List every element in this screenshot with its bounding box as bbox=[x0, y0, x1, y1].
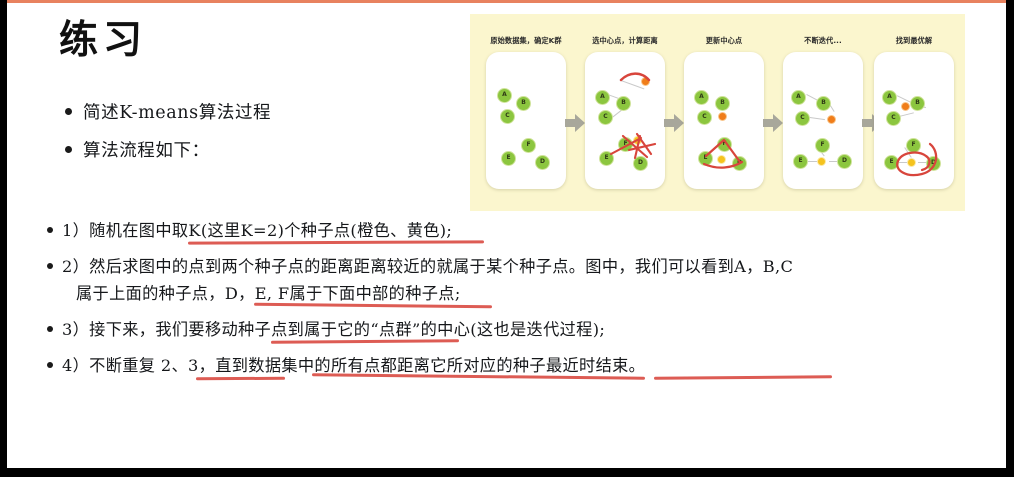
ink-underline bbox=[188, 240, 484, 244]
slide-canvas: 练习 简述K-means算法过程 算法流程如下： 1）随机在图中取K(这里K=2… bbox=[0, 0, 1014, 477]
step-body: 3）接下来，我们要移动种子点到属于它的“点群”的中心(这也是迭代过程); bbox=[62, 316, 605, 343]
data-node-c: C bbox=[795, 111, 810, 126]
data-node-b: B bbox=[616, 96, 631, 111]
data-node-e: E bbox=[793, 154, 808, 169]
data-node-f: F bbox=[717, 137, 732, 152]
slide-content: 练习 简述K-means算法过程 算法流程如下： 1）随机在图中取K(这里K=2… bbox=[7, 3, 1006, 468]
top-bullet-label: 算法流程如下： bbox=[83, 137, 210, 162]
step-body: 4）不断重复 2、3，直到数据集中的所有点都距离它所对应的种子最近时结束。 bbox=[62, 352, 645, 379]
diagram-panel-2: 选中心点，计算距离 A B C F E D bbox=[581, 14, 669, 211]
data-node-a: A bbox=[595, 90, 610, 105]
step-body: 2）然后求图中的点到两个种子点的距离距离较近的就属于某个种子点。图中，我们可以看… bbox=[62, 253, 793, 307]
data-node-b: B bbox=[516, 96, 531, 111]
data-node-b: B bbox=[910, 96, 925, 111]
ink-underline bbox=[654, 375, 832, 380]
data-node-a: A bbox=[882, 90, 897, 105]
data-node-f: F bbox=[815, 138, 830, 153]
panel-card: A B C F E D bbox=[585, 52, 665, 189]
data-node-e: E bbox=[884, 155, 899, 170]
data-node-c: C bbox=[697, 110, 712, 125]
list-item: 算法流程如下： bbox=[65, 137, 465, 162]
data-node-a: A bbox=[497, 88, 512, 103]
list-item: 4）不断重复 2、3，直到数据集中的所有点都距离它所对应的种子最近时结束。 bbox=[47, 352, 947, 379]
distance-link bbox=[809, 117, 825, 120]
ink-annotation bbox=[585, 52, 665, 189]
centroid-orange bbox=[901, 102, 910, 111]
data-node-d: D bbox=[535, 155, 550, 170]
diagram-panel-1: 原始数据集，确定K群 A B C F E D bbox=[482, 14, 570, 211]
data-node-b: B bbox=[715, 96, 730, 111]
ink-underline bbox=[271, 339, 459, 344]
page-title: 练习 bbox=[59, 19, 147, 62]
data-node-e: E bbox=[698, 151, 713, 166]
data-node-f: F bbox=[618, 137, 633, 152]
bullet-dot-icon bbox=[47, 227, 53, 233]
centroid-yellow bbox=[817, 157, 826, 166]
list-item: 1）随机在图中取K(这里K=2)个种子点(橙色、黄色); bbox=[47, 217, 947, 244]
panel-card: A B C F E D bbox=[684, 52, 764, 189]
panel-caption: 选中心点，计算距离 bbox=[581, 36, 669, 46]
list-item: 简述K-means算法过程 bbox=[65, 99, 465, 124]
data-node-d: D bbox=[732, 156, 747, 171]
data-node-e: E bbox=[501, 151, 516, 166]
ink-underline bbox=[196, 377, 285, 380]
centroid-yellow bbox=[633, 136, 642, 145]
centroid-yellow bbox=[717, 155, 726, 164]
data-node-f: F bbox=[906, 138, 921, 153]
data-node-d: D bbox=[926, 156, 941, 171]
data-node-d: D bbox=[633, 156, 648, 171]
step-body: 1）随机在图中取K(这里K=2)个种子点(橙色、黄色); bbox=[62, 217, 452, 244]
list-item: 2）然后求图中的点到两个种子点的距离距离较近的就属于某个种子点。图中，我们可以看… bbox=[47, 253, 947, 307]
steps-list: 1）随机在图中取K(这里K=2)个种子点(橙色、黄色); 2）然后求图中的点到两… bbox=[47, 217, 947, 388]
centroid-orange bbox=[718, 112, 727, 121]
data-node-f: F bbox=[521, 138, 536, 153]
data-node-c: C bbox=[500, 109, 515, 124]
top-bullet-label: 简述K-means算法过程 bbox=[83, 99, 271, 124]
step-line: 3）接下来，我们要移动种子点到属于它的“点群”的中心(这也是迭代过程); bbox=[62, 316, 605, 343]
kmeans-diagram: 原始数据集，确定K群 A B C F E D 选中心点，计算距离 bbox=[470, 14, 965, 211]
bullet-dot-icon bbox=[47, 326, 53, 332]
data-node-b: B bbox=[816, 96, 831, 111]
data-node-e: E bbox=[599, 151, 614, 166]
step-line: 属于上面的种子点，D，E, F属于下面中部的种子点; bbox=[62, 280, 793, 307]
distance-link bbox=[900, 112, 914, 116]
panel-caption: 原始数据集，确定K群 bbox=[482, 36, 570, 46]
diagram-panel-5: 找到最优解 A B C F E D bbox=[870, 14, 958, 211]
bullet-dot-icon bbox=[65, 146, 72, 153]
panel-card: A B C F E D bbox=[783, 52, 863, 189]
data-node-c: C bbox=[886, 111, 901, 126]
data-node-a: A bbox=[791, 90, 806, 105]
bullet-dot-icon bbox=[47, 362, 53, 368]
bullet-dot-icon bbox=[47, 263, 53, 269]
list-item: 3）接下来，我们要移动种子点到属于它的“点群”的中心(这也是迭代过程); bbox=[47, 316, 947, 343]
diagram-panel-4: 不断迭代... A B C F E D bbox=[779, 14, 867, 211]
panel-card: A B C F E D bbox=[874, 52, 954, 189]
panel-card: A B C F E D bbox=[486, 52, 566, 189]
data-node-a: A bbox=[694, 90, 709, 105]
panel-caption: 更新中心点 bbox=[680, 36, 768, 46]
centroid-orange bbox=[827, 115, 836, 124]
bullet-dot-icon bbox=[65, 108, 72, 115]
top-accent-rule bbox=[7, 0, 1014, 3]
data-node-c: C bbox=[598, 110, 613, 125]
centroid-yellow bbox=[907, 158, 916, 167]
step-line: 2）然后求图中的点到两个种子点的距离距离较近的就属于某个种子点。图中，我们可以看… bbox=[62, 253, 793, 280]
panel-caption: 找到最优解 bbox=[870, 36, 958, 46]
centroid-orange bbox=[641, 77, 650, 86]
data-node-d: D bbox=[837, 154, 852, 169]
top-bullet-list: 简述K-means算法过程 算法流程如下： bbox=[65, 99, 465, 175]
panel-caption: 不断迭代... bbox=[779, 36, 867, 46]
diagram-panel-3: 更新中心点 A B C F E D bbox=[680, 14, 768, 211]
